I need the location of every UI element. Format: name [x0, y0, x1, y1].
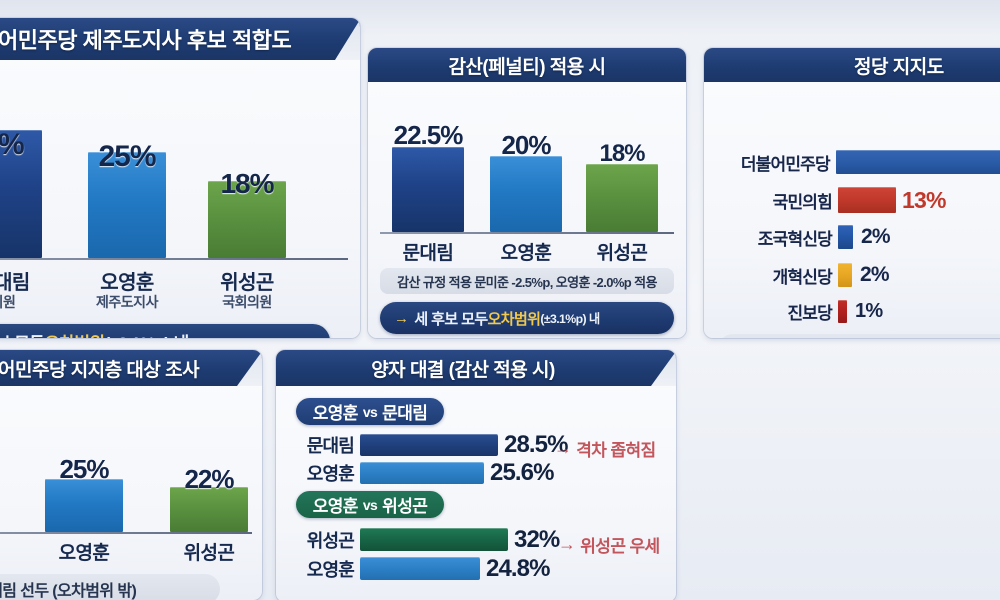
penalty-name-1: 문대림	[382, 238, 474, 265]
penalty-bar-1	[392, 147, 464, 232]
panel-party-support: 정당 지지도 더불어민주당 국민의힘 13% 조국혁신당 2% 개혁	[704, 48, 1000, 338]
h2h-bar-2a	[360, 528, 508, 551]
party-label-3: 조국혁신당	[704, 225, 832, 250]
party-label-4: 개혁신당	[704, 263, 832, 288]
panel-h2h-body: 오영훈 vs 문대림 문대림 28.5% 오영훈 25.6% → 격차 좁혀짐 …	[276, 386, 676, 600]
h2h-pill-1-b: 문대림	[382, 399, 427, 424]
panel-penalty-body: 22.5% 20% 18% 문대림 오영훈 위성곤 감산 규정 적용 문미준 -…	[368, 82, 686, 338]
panel-party-title: 정당 지지도	[854, 52, 944, 79]
panel-h2h-title: 양자 대결 (감산 적용 시)	[371, 355, 555, 382]
penalty-note-prefix: 세 후보 모두	[414, 308, 487, 329]
h2h-name-2b: 오영훈	[292, 556, 354, 582]
party-note-text: → 민주당 압도적 1위	[898, 337, 1000, 338]
party-bar-3	[838, 225, 853, 249]
h2h-value-2a: 32%	[514, 526, 559, 554]
fitness-name-2: 오영훈	[78, 266, 176, 295]
party-note: → 민주당 압도적 1위	[718, 334, 1000, 338]
penalty-subnote-text: 감산 규정 적용 문미준 -2.5%p, 오영훈 -2.0%p 적용	[397, 272, 657, 291]
party-value-2: 13%	[902, 187, 946, 214]
panel-party-body: 더불어민주당 국민의힘 13% 조국혁신당 2% 개혁신당 2%	[704, 82, 1000, 338]
penalty-note-banner: → 세 후보 모두 오차범위 (±3.1%p) 내	[380, 302, 674, 334]
h2h-pill-2-a: 오영훈	[313, 492, 358, 517]
dem-base-value-3: 22%	[165, 464, 253, 495]
fitness-note-highlight: 오차범위	[44, 329, 104, 339]
panel-head-to-head: 양자 대결 (감산 적용 시) 오영훈 vs 문대림 문대림 28.5% 오영훈…	[276, 350, 676, 600]
h2h-annotation-2-arrow: →	[558, 534, 575, 555]
fitness-value-3: 18%	[208, 168, 286, 200]
panel-penalty-header: 감산(페널티) 적용 시	[368, 48, 686, 82]
panel-penalty-title: 감산(페널티) 적용 시	[448, 52, 605, 79]
h2h-pill-2-b: 위성곤	[382, 492, 427, 517]
party-value-4: 2%	[860, 263, 889, 287]
penalty-value-2: 20%	[480, 130, 572, 161]
party-value-3: 2%	[861, 225, 890, 249]
party-row-4: 개혁신당 2%	[704, 263, 1000, 287]
h2h-bar-2b	[360, 557, 480, 580]
panel-dem-base-title: 어민주당 지지층 대상 조사	[0, 355, 199, 382]
party-label-5: 진보당	[704, 299, 832, 324]
penalty-axis	[380, 232, 674, 234]
h2h-pill-2: 오영훈 vs 위성곤	[296, 491, 444, 518]
h2h-pill-1-vs: vs	[363, 404, 377, 420]
fitness-note-prefix: 후보 모두	[0, 329, 44, 339]
party-label-2: 국민의힘	[704, 188, 832, 213]
h2h-annotation-2-text: 위성곤 우세	[580, 532, 659, 557]
party-bar-5	[838, 300, 847, 323]
party-row-5: 진보당 1%	[704, 300, 1000, 323]
party-bar-2	[838, 187, 896, 213]
penalty-value-1: 22.5%	[382, 120, 474, 151]
fitness-value-1: 0%	[0, 128, 42, 162]
fitness-value-2: 25%	[88, 140, 166, 174]
h2h-pill-1: 오영훈 vs 문대림	[296, 398, 444, 425]
h2h-annotation-1-text: 격차 좁혀짐	[576, 436, 655, 461]
panel-fitness-body: 0% 25% 18% 문대림 오영훈 위성곤 의원 제주도지사 국회의원 후보 …	[0, 60, 360, 338]
panel-candidate-fitness: 어민주당 제주도지사 후보 적합도 0% 25% 18% 문대림 오영훈 위성곤…	[0, 18, 360, 338]
penalty-value-3: 18%	[576, 140, 668, 168]
penalty-note-highlight: 오차범위	[488, 308, 541, 329]
h2h-value-1b: 25.6%	[490, 459, 554, 487]
h2h-value-2b: 24.8%	[486, 555, 550, 583]
party-bar-4	[838, 263, 852, 287]
panel-dem-base: 어민주당 지지층 대상 조사 25% 22% 오영훈 위성곤 문대림 선두 (오…	[0, 350, 262, 600]
party-row-2: 국민의힘 13%	[704, 187, 1000, 213]
party-value-5: 1%	[855, 300, 882, 323]
panel-party-header: 정당 지지도	[704, 48, 1000, 82]
h2h-annotation-1: → 격차 좁혀짐	[554, 436, 656, 461]
fitness-sub-1: 의원	[0, 292, 52, 312]
penalty-bar-3	[586, 164, 658, 232]
penalty-note-arrow: →	[394, 310, 408, 327]
dem-base-name-2: 오영훈	[40, 538, 128, 565]
h2h-name-2a: 위성곤	[292, 527, 354, 553]
penalty-note-suffix: (±3.1%p) 내	[540, 309, 599, 327]
h2h-annotation-1-arrow: →	[554, 438, 571, 459]
fitness-sub-3: 국회의원	[198, 292, 296, 312]
h2h-row-1b: 오영훈 25.6%	[292, 462, 672, 484]
penalty-name-3: 위성곤	[576, 238, 668, 265]
penalty-subnote: 감산 규정 적용 문미준 -2.5%p, 오영훈 -2.0%p 적용	[380, 268, 674, 294]
h2h-row-2b: 오영훈 24.8%	[292, 557, 672, 580]
penalty-bar-2	[490, 156, 562, 232]
h2h-name-1b: 오영훈	[292, 460, 354, 486]
infographic-stage: 어민주당 제주도지사 후보 적합도 0% 25% 18% 문대림 오영훈 위성곤…	[0, 0, 1000, 600]
fitness-chart	[0, 120, 360, 258]
h2h-annotation-2: → 위성곤 우세	[558, 532, 660, 557]
party-label-1: 더불어민주당	[704, 150, 830, 175]
dem-base-bar-2	[45, 479, 123, 532]
panel-fitness-title: 어민주당 제주도지사 후보 적합도	[0, 23, 291, 55]
dem-base-note-text: 문대림 선두 (오차범위 밖)	[0, 577, 136, 600]
dem-base-axis	[0, 532, 252, 534]
panel-dem-base-header: 어민주당 지지층 대상 조사	[0, 350, 262, 386]
party-row-1: 더불어민주당	[704, 150, 1000, 174]
h2h-bar-1b	[360, 462, 484, 484]
fitness-axis	[0, 258, 348, 260]
h2h-name-1a: 문대림	[292, 432, 354, 458]
panel-dem-base-body: 25% 22% 오영훈 위성곤 문대림 선두 (오차범위 밖)	[0, 386, 262, 600]
penalty-name-2: 오영훈	[480, 238, 572, 265]
dem-base-note: 문대림 선두 (오차범위 밖)	[0, 574, 220, 600]
h2h-bar-1a	[360, 434, 498, 456]
fitness-name-1: 문대림	[0, 266, 52, 295]
party-bar-1	[836, 150, 1000, 174]
fitness-note-banner: 후보 모두 오차범위 (±3.1%p) 내	[0, 324, 330, 338]
fitness-name-3: 위성곤	[198, 266, 296, 295]
panel-fitness-header: 어민주당 제주도지사 후보 적합도	[0, 18, 360, 60]
fitness-sub-2: 제주도지사	[78, 292, 176, 312]
panel-penalty: 감산(페널티) 적용 시 22.5% 20% 18% 문대림 오영훈 위성곤 감…	[368, 48, 686, 338]
dem-base-name-3: 위성곤	[165, 538, 253, 565]
h2h-pill-2-vs: vs	[363, 497, 377, 513]
panel-h2h-header: 양자 대결 (감산 적용 시)	[276, 350, 676, 386]
h2h-pill-1-a: 오영훈	[313, 399, 358, 424]
dem-base-value-2: 25%	[40, 454, 128, 485]
party-row-3: 조국혁신당 2%	[704, 225, 1000, 249]
fitness-note-suffix: (±3.1%p) 내	[104, 329, 188, 339]
